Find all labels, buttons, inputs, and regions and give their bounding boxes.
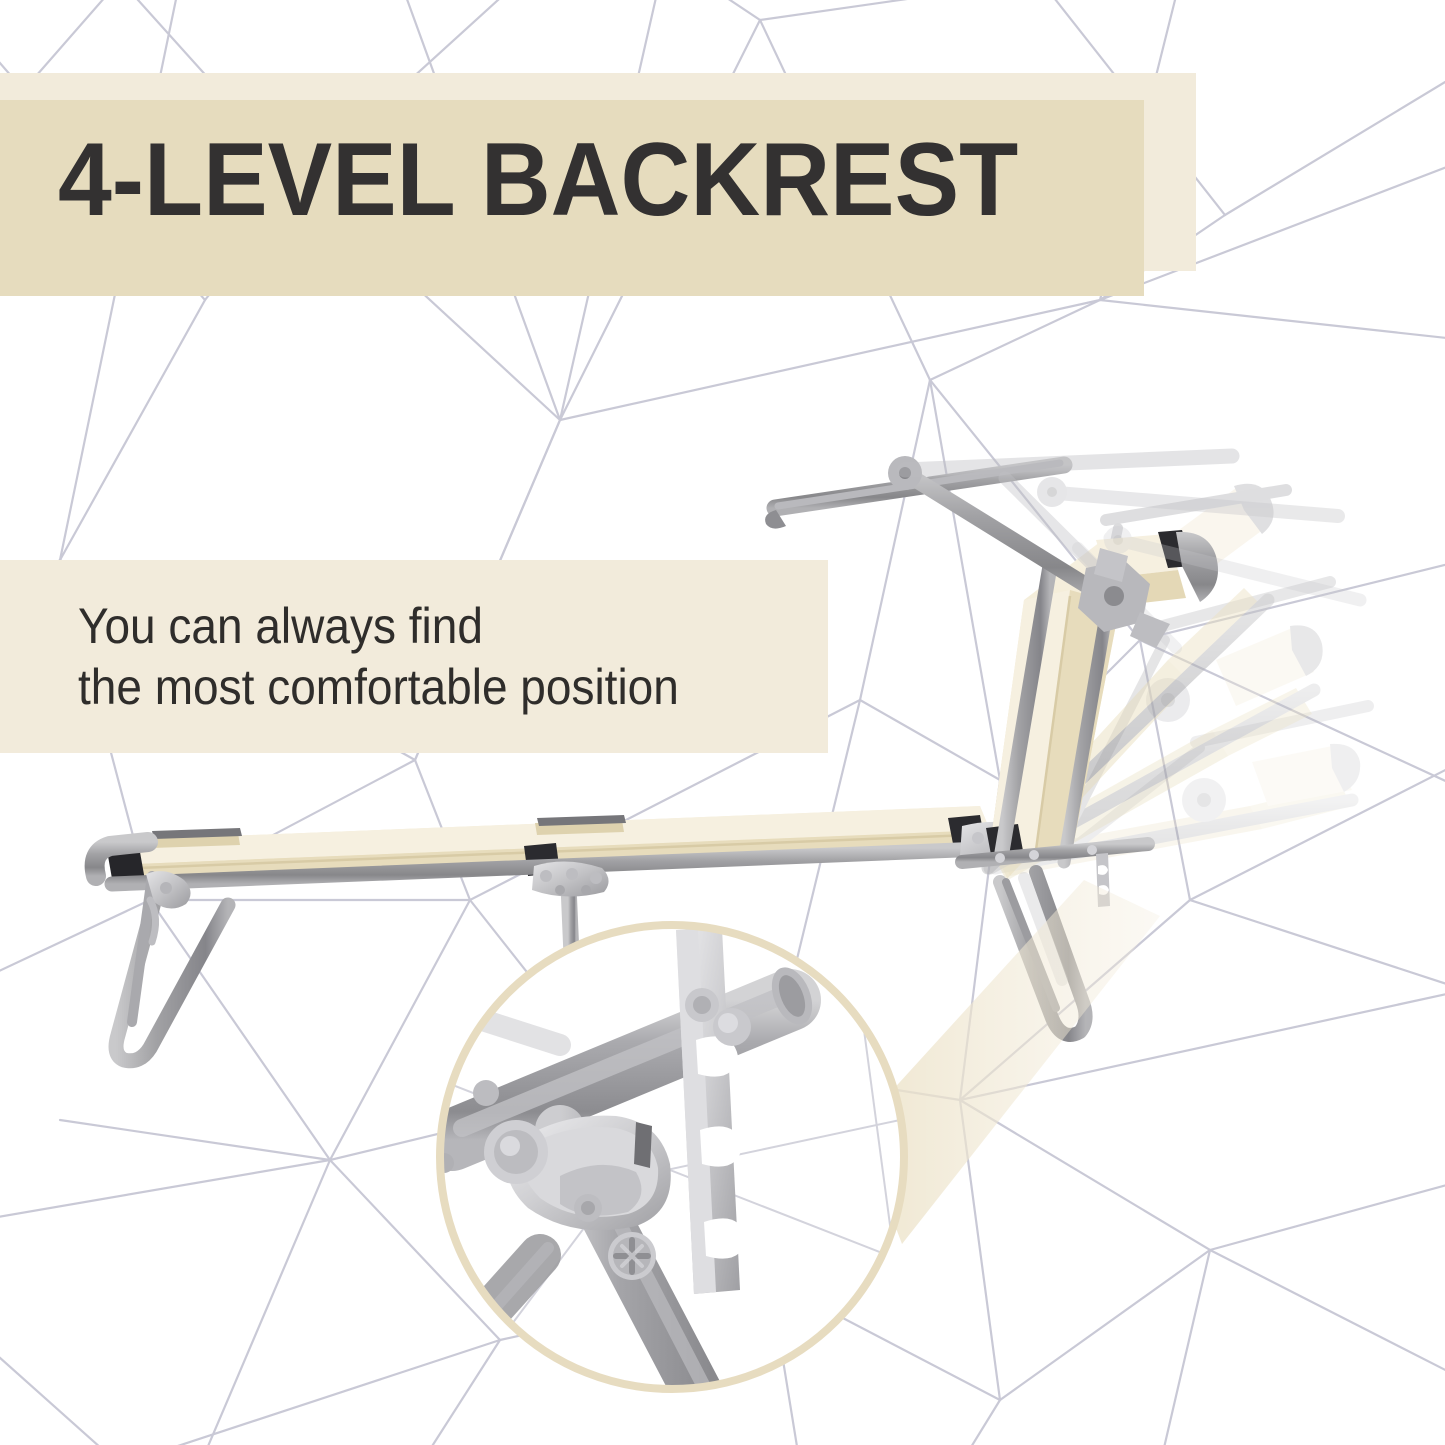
promo-image: 4-LEVEL BACKREST You can always findthe … [0,0,1445,1445]
magnifier-detail-circle [0,0,1445,1445]
phillips-screw [608,1232,656,1280]
